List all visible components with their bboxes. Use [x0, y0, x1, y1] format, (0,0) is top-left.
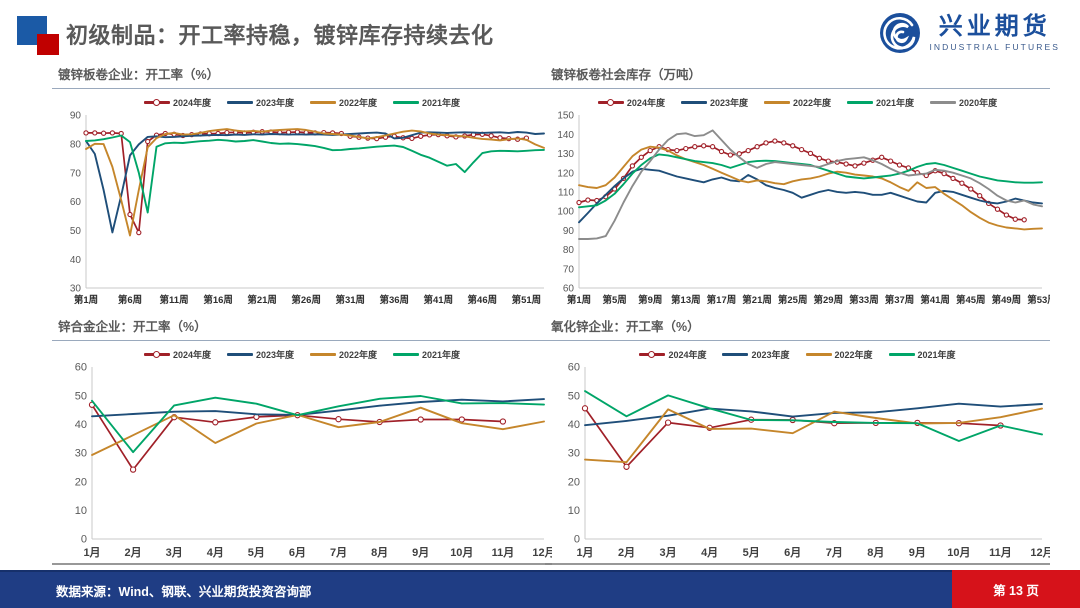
svg-text:60: 60: [70, 197, 82, 208]
svg-text:140: 140: [557, 130, 574, 141]
chart-plot: 01020304050601月2月3月4月5月6月7月8月9月10月11月12月: [545, 361, 1050, 573]
svg-text:6月: 6月: [784, 546, 801, 559]
svg-text:80: 80: [563, 245, 575, 256]
legend-swatch: [889, 353, 915, 356]
svg-text:第36周: 第36周: [379, 294, 409, 306]
svg-text:第21周: 第21周: [247, 294, 277, 306]
footer-source-text: 数据来源：Wind、钢联、兴业期货投资咨询部: [56, 581, 311, 600]
chart-title: 镀锌板卷企业：开工率（%）: [52, 64, 552, 88]
legend-label: 2023年度: [751, 348, 789, 361]
legend-swatch: [722, 353, 748, 356]
svg-text:60: 60: [563, 284, 575, 295]
svg-text:第1周: 第1周: [567, 294, 591, 306]
svg-text:40: 40: [70, 255, 82, 266]
svg-text:第11周: 第11周: [160, 294, 189, 306]
chart-title-rule: [52, 88, 552, 89]
legend-item[interactable]: 2023年度: [722, 348, 789, 361]
svg-text:第41周: 第41周: [920, 294, 950, 306]
legend-item[interactable]: 2022年度: [806, 348, 873, 361]
chart-title-rule: [52, 340, 552, 341]
brand-text: 兴业期货 INDUSTRIAL FUTURES: [929, 15, 1060, 52]
svg-text:第17周: 第17周: [707, 294, 737, 306]
svg-text:90: 90: [563, 226, 575, 237]
svg-text:1月: 1月: [576, 546, 593, 559]
svg-text:第51周: 第51周: [512, 294, 542, 306]
svg-text:50: 50: [70, 226, 82, 237]
svg-text:7月: 7月: [826, 546, 843, 559]
svg-text:20: 20: [568, 476, 580, 488]
svg-text:第29周: 第29周: [814, 294, 844, 306]
legend-item[interactable]: 2024年度: [144, 96, 211, 109]
legend-label: 2020年度: [959, 96, 997, 109]
legend-swatch: [144, 101, 170, 104]
svg-text:第46周: 第46周: [468, 294, 498, 306]
svg-text:120: 120: [557, 168, 574, 179]
svg-text:第16周: 第16周: [203, 294, 233, 306]
chart-title-rule: [545, 88, 1050, 89]
legend-label: 2024年度: [668, 348, 706, 361]
chart-panel-zinc-oxide-operating-rate: 氧化锌企业：开工率（%） 2024年度2023年度2022年度2021年度 01…: [545, 316, 1050, 568]
svg-text:10: 10: [568, 505, 580, 517]
svg-text:110: 110: [558, 187, 574, 198]
svg-text:5月: 5月: [743, 546, 760, 559]
svg-text:0: 0: [81, 534, 87, 546]
svg-text:第26周: 第26周: [291, 294, 321, 306]
footer-divider: [0, 570, 1080, 572]
svg-text:4月: 4月: [207, 546, 224, 559]
brand-name-cn: 兴业期货: [939, 15, 1051, 39]
legend-label: 2023年度: [256, 348, 294, 361]
legend-item[interactable]: 2022年度: [310, 96, 377, 109]
legend-item[interactable]: 2024年度: [639, 348, 706, 361]
page-number-badge: 第 13 页: [952, 570, 1080, 608]
legend-label: 2021年度: [918, 348, 956, 361]
svg-text:10月: 10月: [450, 546, 473, 559]
legend-swatch: [598, 101, 624, 104]
legend-item[interactable]: 2021年度: [889, 348, 956, 361]
legend-item[interactable]: 2024年度: [598, 96, 665, 109]
legend-swatch: [930, 101, 956, 104]
svg-text:1月: 1月: [83, 546, 100, 559]
legend-label: 2024年度: [173, 96, 211, 109]
legend-label: 2022年度: [339, 96, 377, 109]
legend-label: 2022年度: [835, 348, 873, 361]
svg-text:3月: 3月: [166, 546, 183, 559]
svg-text:80: 80: [70, 139, 82, 150]
svg-text:50: 50: [568, 390, 580, 402]
svg-text:70: 70: [70, 168, 82, 179]
svg-text:30: 30: [568, 448, 580, 460]
brand-name-en: INDUSTRIAL FUTURES: [929, 42, 1060, 52]
legend-swatch: [144, 353, 170, 356]
svg-text:11月: 11月: [492, 546, 515, 559]
svg-text:70: 70: [563, 264, 575, 275]
chart-legend: 2024年度2023年度2022年度2021年度: [52, 96, 552, 109]
logo-red-square: [37, 34, 59, 55]
svg-text:90: 90: [70, 111, 82, 122]
legend-swatch: [310, 101, 336, 104]
legend-label: 2024年度: [173, 348, 211, 361]
svg-text:第31周: 第31周: [335, 294, 365, 306]
svg-text:第1周: 第1周: [74, 294, 98, 306]
svg-text:3月: 3月: [660, 546, 677, 559]
svg-text:第33周: 第33周: [849, 294, 879, 306]
svg-text:30: 30: [70, 284, 82, 295]
svg-text:第37周: 第37周: [885, 294, 915, 306]
brand-swirl-icon: [879, 12, 921, 54]
svg-text:20: 20: [75, 476, 87, 488]
svg-text:6月: 6月: [289, 546, 306, 559]
chart-panel-galvanized-social-inventory: 镀锌板卷社会库存（万吨） 2024年度2023年度2022年度2021年度202…: [545, 64, 1050, 310]
legend-label: 2023年度: [256, 96, 294, 109]
svg-text:4月: 4月: [701, 546, 718, 559]
svg-text:第6周: 第6周: [118, 294, 142, 306]
page-number-label: 第 13 页: [993, 580, 1039, 599]
chart-plot: 30405060708090第1周第6周第11周第16周第21周第26周第31周…: [52, 109, 552, 314]
legend-label: 2024年度: [627, 96, 665, 109]
svg-text:第21周: 第21周: [742, 294, 772, 306]
slide-footer: 数据来源：Wind、钢联、兴业期货投资咨询部 第 13 页: [0, 570, 1080, 608]
svg-text:2月: 2月: [125, 546, 142, 559]
legend-item[interactable]: 2021年度: [393, 96, 460, 109]
svg-text:10: 10: [75, 505, 87, 517]
svg-text:11月: 11月: [989, 546, 1012, 559]
chart-legend: 2024年度2023年度2022年度2021年度: [52, 348, 552, 361]
chart-title-rule: [545, 340, 1050, 341]
legend-label: 2023年度: [710, 96, 748, 109]
svg-text:第41周: 第41周: [424, 294, 454, 306]
svg-text:8月: 8月: [867, 546, 884, 559]
legend-label: 2021年度: [422, 96, 460, 109]
svg-text:12月: 12月: [1030, 546, 1050, 559]
chart-title: 锌合金企业：开工率（%）: [52, 316, 552, 340]
svg-text:第25周: 第25周: [778, 294, 808, 306]
svg-text:第49周: 第49周: [992, 294, 1022, 306]
chart-title: 氧化锌企业：开工率（%）: [545, 316, 1050, 340]
svg-text:第53周: 第53周: [1027, 294, 1050, 306]
svg-text:40: 40: [75, 419, 87, 431]
legend-swatch: [847, 101, 873, 104]
legend-label: 2022年度: [339, 348, 377, 361]
legend-item[interactable]: 2023年度: [227, 348, 294, 361]
legend-item[interactable]: 2020年度: [930, 96, 997, 109]
chart-legend: 2024年度2023年度2022年度2021年度2020年度: [545, 96, 1050, 109]
svg-text:50: 50: [75, 390, 87, 402]
svg-text:60: 60: [75, 362, 87, 374]
company-logo-mark: [17, 16, 63, 56]
svg-text:8月: 8月: [371, 546, 388, 559]
svg-text:5月: 5月: [248, 546, 265, 559]
legend-item[interactable]: 2023年度: [681, 96, 748, 109]
svg-text:2月: 2月: [618, 546, 635, 559]
legend-swatch: [681, 101, 707, 104]
legend-swatch: [764, 101, 790, 104]
svg-text:9月: 9月: [909, 546, 926, 559]
chart-plot: 60708090100110120130140150第1周第5周第9周第13周第…: [545, 109, 1050, 314]
svg-text:30: 30: [75, 448, 87, 460]
legend-item[interactable]: 2022年度: [310, 348, 377, 361]
legend-item[interactable]: 2021年度: [393, 348, 460, 361]
svg-text:第5周: 第5周: [602, 294, 626, 306]
svg-text:7月: 7月: [330, 546, 347, 559]
svg-text:130: 130: [557, 149, 574, 160]
page-title: 初级制品：开工率持稳，镀锌库存持续去化: [66, 18, 494, 50]
svg-text:40: 40: [568, 419, 580, 431]
chart-plot: 01020304050601月2月3月4月5月6月7月8月9月10月11月12月: [52, 361, 552, 573]
legend-swatch: [393, 101, 419, 104]
legend-swatch: [227, 353, 253, 356]
svg-text:第9周: 第9周: [638, 294, 662, 306]
legend-item[interactable]: 2022年度: [764, 96, 831, 109]
svg-text:9月: 9月: [412, 546, 429, 559]
svg-text:第13周: 第13周: [671, 294, 701, 306]
legend-swatch: [393, 353, 419, 356]
chart-panel-galvanized-operating-rate: 镀锌板卷企业：开工率（%） 2024年度2023年度2022年度2021年度 3…: [52, 64, 552, 310]
brand-logo: 兴业期货 INDUSTRIAL FUTURES: [879, 10, 1060, 56]
legend-label: 2022年度: [793, 96, 831, 109]
legend-swatch: [639, 353, 665, 356]
legend-swatch: [227, 101, 253, 104]
svg-text:10月: 10月: [947, 546, 970, 559]
svg-text:60: 60: [568, 362, 580, 374]
svg-text:100: 100: [557, 207, 574, 218]
legend-swatch: [310, 353, 336, 356]
chart-legend: 2024年度2023年度2022年度2021年度: [545, 348, 1050, 361]
legend-label: 2021年度: [422, 348, 460, 361]
legend-item[interactable]: 2021年度: [847, 96, 914, 109]
legend-swatch: [806, 353, 832, 356]
chart-panel-zinc-alloy-operating-rate: 锌合金企业：开工率（%） 2024年度2023年度2022年度2021年度 01…: [52, 316, 552, 568]
chart-title: 镀锌板卷社会库存（万吨）: [545, 64, 1050, 88]
svg-text:第45周: 第45周: [956, 294, 986, 306]
legend-item[interactable]: 2023年度: [227, 96, 294, 109]
slide-header: 初级制品：开工率持稳，镀锌库存持续去化 兴业期货 INDUSTRIAL FUTU…: [0, 0, 1080, 62]
legend-item[interactable]: 2024年度: [144, 348, 211, 361]
svg-text:150: 150: [557, 111, 574, 122]
legend-label: 2021年度: [876, 96, 914, 109]
svg-text:0: 0: [574, 534, 580, 546]
